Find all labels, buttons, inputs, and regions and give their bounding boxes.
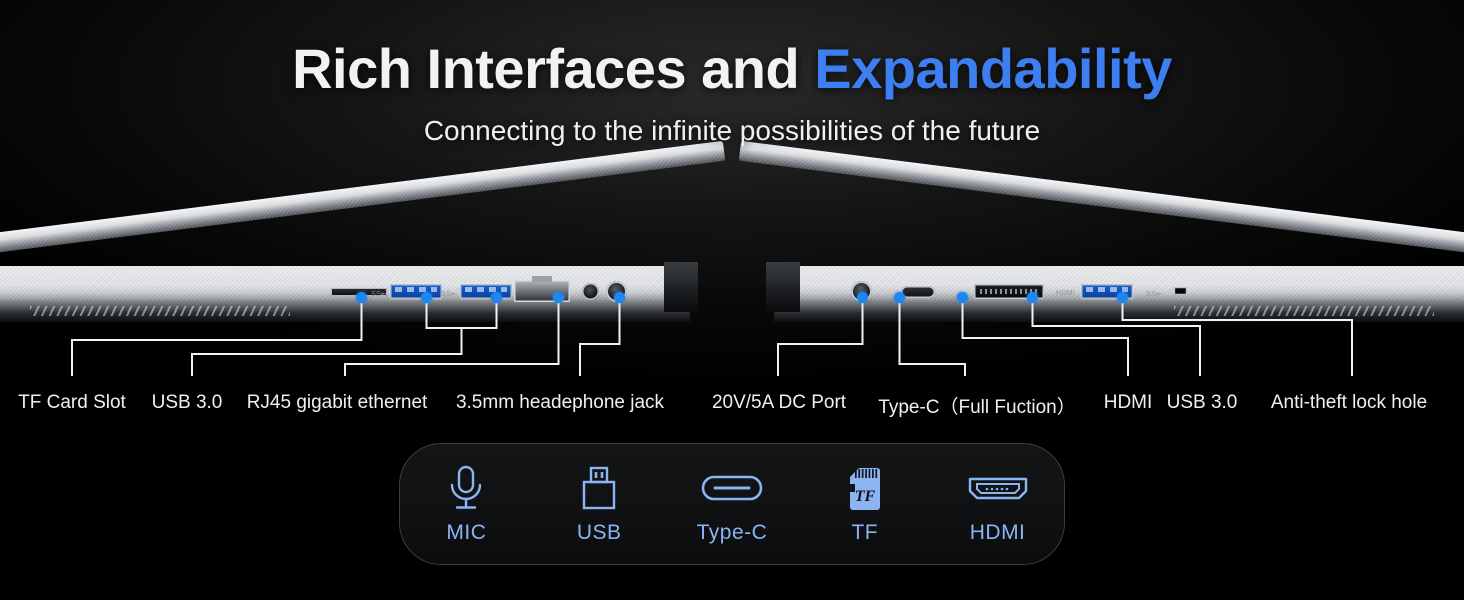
icon-label-type-c: Type-C [697,521,768,545]
page-title: Rich Interfaces and Expandability [0,40,1464,99]
callout-label-dc-port: 20V/5A DC Port [712,392,846,414]
type-c-port [901,286,935,298]
title-main: Rich Interfaces and [292,37,814,100]
tf-card-icon: TF [846,464,884,512]
type-c-icon [701,464,763,512]
callout-dot-usb-right [1027,292,1038,303]
icon-cell-type-c: Type-C [673,464,791,545]
icon-label-usb: USB [577,521,622,545]
callout-dot-headphone-jack [614,292,625,303]
callout-label-tf-card-slot: TF Card Slot [18,392,126,414]
usb-mark-left-1: SS⇤ [371,290,387,298]
laptop-left-lid [0,141,725,256]
laptop-left-base: SS⇤ SS⇤ [0,266,690,322]
icon-cell-tf: TF TF [806,464,924,545]
usb-mark-left-2: SS⇤ [441,290,457,298]
callout-label-usb-3-right: USB 3.0 [1167,392,1238,414]
title-accent: Expandability [814,37,1172,100]
usb-3-port-left-1 [390,284,442,299]
icon-label-mic: MIC [446,521,486,545]
header: Rich Interfaces and Expandability Connec… [0,0,1464,147]
callout-dot-hdmi [957,292,968,303]
callout-dot-tf-card-slot [356,292,367,303]
port-icon-panel: MIC USB Type-C [399,443,1065,565]
icon-cell-usb: USB [540,464,658,545]
headphone-jack [582,283,599,300]
icon-label-tf: TF [851,521,878,545]
laptop-left-hinge [664,262,698,312]
callout-label-rj45-ethernet: RJ45 gigabit ethernet [247,392,428,414]
callout-label-type-c: Type-C（Full Fuction） [878,392,1075,419]
usb-3-port-left-2 [460,284,512,299]
lock-hole [1174,287,1187,295]
laptop-right-lid [739,141,1464,256]
usb-drive-icon [580,464,618,512]
hdmi-icon [967,464,1029,512]
callout-label-lock-hole: Anti-theft lock hole [1271,392,1427,414]
callout-dot-rj45 [553,292,564,303]
callout-label-hdmi: HDMI [1104,392,1153,414]
microphone-icon [445,464,487,512]
icon-label-hdmi: HDMI [970,521,1026,545]
callout-dot-dc-port [857,292,868,303]
callout-label-usb-3-left: USB 3.0 [152,392,223,414]
leader-usb-mid [192,328,462,376]
callout-dot-type-c [894,292,905,303]
callout-dot-usb-left-1 [421,292,432,303]
callout-label-headphone-jack: 3.5mm headephone jack [456,392,664,414]
icon-cell-hdmi: HDMI [939,464,1057,545]
svg-text:TF: TF [855,488,876,505]
callout-dot-lock-hole [1117,292,1128,303]
hdmi-mark: HDMI [1056,290,1075,297]
page-subtitle: Connecting to the infinite possibilities… [0,115,1464,147]
laptop-right-vent [1174,306,1434,316]
callout-dot-usb-left-2 [491,292,502,303]
laptop-right-hinge [766,262,800,312]
laptop-left-vent [30,306,290,316]
icon-cell-mic: MIC [407,464,525,545]
promo-banner: Rich Interfaces and Expandability Connec… [0,0,1464,600]
usb-mark-right: SS⇤ [1146,290,1162,298]
